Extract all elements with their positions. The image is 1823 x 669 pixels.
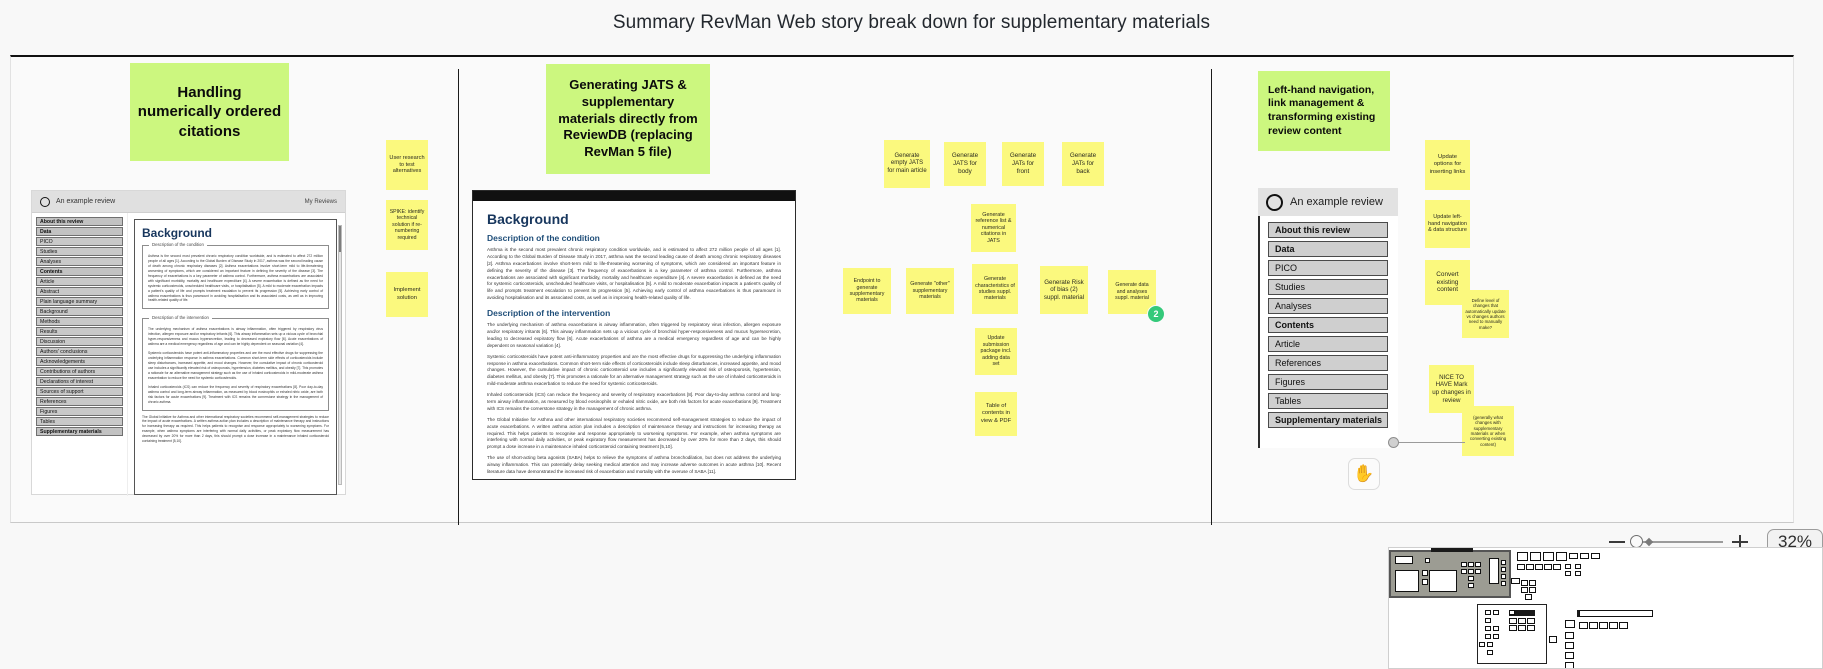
sidebar-item-label: Studies	[1275, 282, 1305, 292]
sidebar-item-label: About this review	[1275, 225, 1350, 235]
note-generate-reference-list[interactable]: Generate reference list & numerical cita…	[971, 204, 1016, 252]
sidebar-item-label: Contents	[40, 269, 62, 275]
doc-box-condition: Description of the condition Asthma is t…	[142, 245, 329, 309]
note-implement-solution[interactable]: Implement solution	[386, 272, 428, 317]
review-title: An example review	[1290, 196, 1383, 208]
sidebar-item-contents[interactable]: Contents	[36, 267, 123, 276]
sidebar-item-label: PICO	[1275, 263, 1297, 273]
sidebar-item-label: Tables	[40, 419, 55, 425]
sidebar-item-large-analyses[interactable]: Analyses	[1268, 298, 1388, 314]
section-header-citations[interactable]: Handling numerically ordered citations	[130, 63, 289, 161]
sidebar-item-label: Plain language summary	[40, 299, 97, 305]
sidebar-item-large-supplementary-materials[interactable]: Supplementary materials	[1268, 412, 1388, 428]
sidebar-item-label: Contributions of authors	[40, 369, 95, 375]
note-user-research[interactable]: User research to test alternatives	[386, 140, 428, 190]
review-app-left[interactable]: An example review My Reviews About this …	[31, 190, 346, 495]
sidebar-item-results[interactable]: Results	[36, 327, 123, 336]
sidebar-item-label: Figures	[1275, 377, 1305, 387]
sidebar-item-discussion[interactable]: Discussion	[36, 337, 123, 346]
note-generate-other-supplementary[interactable]: Generate "other" supplementary materials	[906, 268, 954, 314]
zoom-slider[interactable]	[1635, 541, 1723, 543]
doc-title-middle: Background	[487, 211, 781, 227]
sidebar-item-tables[interactable]: Tables	[36, 417, 123, 426]
section-header-navigation[interactable]: Left-hand navigation, link management & …	[1258, 71, 1390, 151]
sidebar-item-analyses[interactable]: Analyses	[36, 257, 123, 266]
sidebar-item-label: Tables	[1275, 396, 1301, 406]
sidebar-item-large-contents[interactable]: Contents	[1268, 317, 1388, 333]
sidebar-item-label: Background	[40, 309, 68, 315]
note-update-submission-package[interactable]: Update submission package incl. adding d…	[975, 328, 1017, 375]
note-update-link-options[interactable]: Update options for inserting links	[1425, 140, 1470, 190]
note-generate-empty-jats[interactable]: Generate empty JATS for main article	[884, 140, 930, 188]
doc-para-4: Inhaled corticosteroids (ICS) can reduce…	[487, 392, 781, 413]
doc-scrollbar-thumb[interactable]	[339, 226, 341, 252]
review-title: An example review	[56, 198, 115, 205]
sidebar-item-label: Article	[40, 279, 54, 285]
doc-para-6: The use of short-acting beta agonists (S…	[487, 455, 781, 476]
sidebar-item-acknowledgements[interactable]: Acknowledgements	[36, 357, 123, 366]
sidebar-item-label: Contents	[1275, 320, 1314, 330]
sidebar-item-large-figures[interactable]: Figures	[1268, 374, 1388, 390]
sidebar-item-label: About this review	[40, 219, 83, 225]
sidebar-item-label: Data	[40, 229, 51, 235]
sidebar-item-large-data[interactable]: Data	[1268, 241, 1388, 257]
sidebar-item-large-references[interactable]: References	[1268, 355, 1388, 371]
sidebar-item-label: Authors' conclusions	[40, 349, 87, 355]
note-characteristics-of-studies[interactable]: Generate characteristics of studies supp…	[972, 264, 1018, 314]
note-endpoint-supplementary[interactable]: Endpoint to generate supplementary mater…	[843, 268, 891, 314]
sidebar-item-large-article[interactable]: Article	[1268, 336, 1388, 352]
sidebar-item-label: Declarations of interest	[40, 379, 93, 385]
review-avatar-icon	[1266, 194, 1283, 211]
doc-heading-intervention: Description of the intervention	[487, 308, 781, 318]
sidebar-item-label: Analyses	[40, 259, 61, 265]
sidebar-item-declarations-of-interest[interactable]: Declarations of interest	[36, 377, 123, 386]
sidebar-item-supplementary-materials[interactable]: Supplementary materials	[36, 427, 123, 436]
sidebar-item-label: References	[1275, 358, 1321, 368]
sidebar-item-label: Studies	[40, 249, 57, 255]
note-badge-count: 2	[1147, 305, 1165, 323]
sidebar-item-large-about-this-review[interactable]: About this review	[1268, 222, 1388, 238]
section-divider-1	[458, 69, 459, 525]
review-avatar-icon	[40, 197, 50, 207]
note-risk-of-bias[interactable]: Generate Risk of bias (2) suppl. materia…	[1040, 266, 1088, 314]
sidebar-item-authors-conclusions[interactable]: Authors' conclusions	[36, 347, 123, 356]
doc-box-intervention: Description of the intervention The unde…	[142, 318, 329, 410]
sidebar-item-label: Supplementary materials	[40, 429, 102, 435]
section-header-jats[interactable]: Generating JATS & supplementary material…	[546, 64, 710, 174]
doc-para-condition: Asthma is the second most prevalent chro…	[487, 247, 781, 302]
note-define-level-of-changes[interactable]: Define level of changes that automatical…	[1462, 290, 1509, 338]
sidebar-item-label: Supplementary materials	[1275, 415, 1382, 425]
review-app-right[interactable]: An example review About this reviewDataP…	[1258, 188, 1398, 448]
note-generally-what-changes[interactable]: (generally what changes with supplementa…	[1462, 406, 1514, 456]
note-update-left-hand-nav[interactable]: Update left-hand navigation & data struc…	[1425, 200, 1470, 248]
sidebar-item-label: Sources of support	[40, 389, 84, 395]
sidebar-item-contributions-of-authors[interactable]: Contributions of authors	[36, 367, 123, 376]
sidebar-item-data[interactable]: Data	[36, 227, 123, 236]
sidebar-item-label: Discussion	[40, 339, 65, 345]
sidebar-item-plain-language-summary[interactable]: Plain language summary	[36, 297, 123, 306]
note-generate-jats-front[interactable]: Generate JATs for front	[1002, 142, 1044, 186]
note-spike-technical[interactable]: SPIKE: identify technical solution if re…	[386, 200, 428, 250]
jats-document-preview[interactable]: Background Description of the condition …	[472, 190, 796, 480]
connector-line	[1395, 442, 1465, 443]
review-sidebar-nav[interactable]: About this reviewDataPICOStudiesAnalyses…	[32, 213, 127, 496]
hand-icon: ✋	[1353, 464, 1374, 484]
page-title: Summary RevMan Web story break down for …	[0, 12, 1823, 34]
doc-para-3: Systemic corticosteroids have potent ant…	[487, 354, 781, 388]
doc-para-5: The Global Initiative for Asthma and oth…	[487, 417, 781, 451]
sidebar-item-label: PICO	[40, 239, 53, 245]
sidebar-item-label: Abstract	[40, 289, 59, 295]
sidebar-item-label: Figures	[40, 409, 57, 415]
review-sidebar-nav-large[interactable]: About this reviewDataPICOStudiesAnalyses…	[1260, 216, 1398, 434]
my-reviews-link[interactable]: My Reviews	[305, 199, 337, 205]
whiteboard-canvas[interactable]: Summary RevMan Web story break down for …	[0, 0, 1823, 669]
zoom-slider-marker	[1645, 538, 1653, 546]
sidebar-item-sources-of-support[interactable]: Sources of support	[36, 387, 123, 396]
sidebar-item-large-pico[interactable]: PICO	[1268, 260, 1388, 276]
sidebar-item-article[interactable]: Article	[36, 277, 123, 286]
sidebar-item-label: Methods	[40, 319, 60, 325]
sidebar-item-studies[interactable]: Studies	[36, 247, 123, 256]
sidebar-item-large-tables[interactable]: Tables	[1268, 393, 1388, 409]
note-generate-data-analyses[interactable]: Generate data and analyses suppl. materi…	[1108, 270, 1156, 314]
sidebar-item-background[interactable]: Background	[36, 307, 123, 316]
note-generate-jats-back[interactable]: Generate JATs for back	[1062, 142, 1104, 186]
doc-scrollbar[interactable]	[338, 225, 342, 485]
sidebar-item-abstract[interactable]: Abstract	[36, 287, 123, 296]
note-generate-jats-body[interactable]: Generate JATS for body	[944, 142, 986, 186]
sidebar-item-references[interactable]: References	[36, 397, 123, 406]
sidebar-item-label: Results	[40, 329, 57, 335]
sidebar-item-label: Article	[1275, 339, 1300, 349]
sidebar-item-label: Analyses	[1275, 301, 1312, 311]
sidebar-item-label: Data	[1275, 244, 1295, 254]
zoom-out-icon[interactable]	[1609, 541, 1625, 543]
sidebar-item-about-this-review[interactable]: About this review	[36, 217, 123, 226]
sidebar-item-large-studies[interactable]: Studies	[1268, 279, 1388, 295]
hand-tool-button[interactable]: ✋	[1348, 458, 1380, 490]
note-table-of-contents[interactable]: Table of contents in view & PDF	[975, 392, 1017, 436]
minimap[interactable]	[1388, 547, 1823, 669]
sidebar-item-methods[interactable]: Methods	[36, 317, 123, 326]
sidebar-item-figures[interactable]: Figures	[36, 407, 123, 416]
doc-title-left: Background	[142, 226, 329, 240]
review-app-header: An example review My Reviews	[32, 191, 345, 213]
sidebar-item-label: Acknowledgements	[40, 359, 85, 365]
doc-para-intervention: The underlying mechanism of asthma exace…	[487, 322, 781, 350]
review-app-right-header: An example review	[1258, 188, 1398, 216]
doc-heading-condition: Description of the condition	[487, 233, 781, 243]
sidebar-item-pico[interactable]: PICO	[36, 237, 123, 246]
sidebar-item-label: References	[40, 399, 67, 405]
section-divider-2	[1211, 69, 1212, 525]
connector-endpoint[interactable]	[1388, 437, 1399, 448]
doc-topbar	[473, 191, 795, 201]
